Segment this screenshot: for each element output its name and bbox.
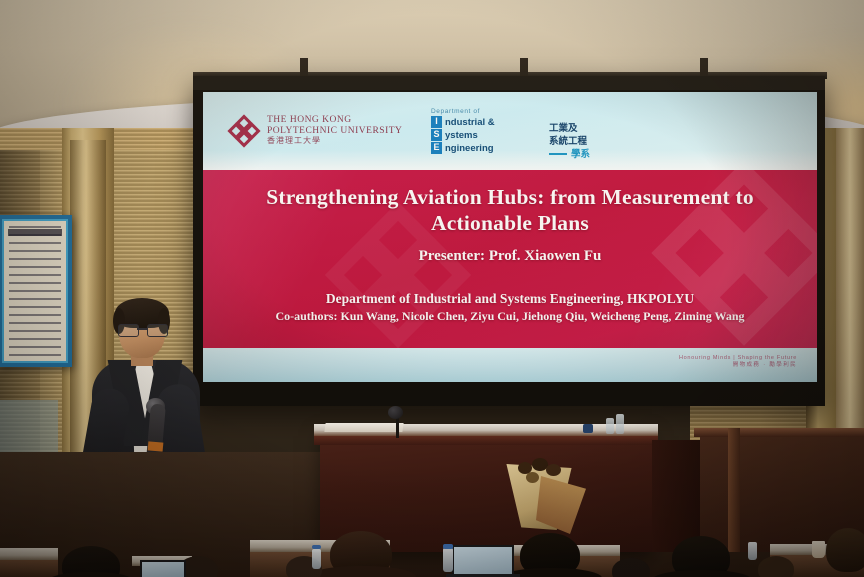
ise-initial-e: E	[431, 142, 442, 154]
bottle-cap	[312, 545, 321, 549]
audience-head	[826, 528, 864, 572]
audience-head	[612, 558, 650, 577]
polyu-tagline: Honouring Minds | Shaping the Future 開物成…	[679, 355, 797, 369]
ise-chinese-line1: 工業及	[549, 122, 590, 135]
polyu-name-chinese: 香港理工大學	[267, 137, 402, 146]
screen-mount-bracket	[520, 58, 528, 78]
water-bottle	[443, 548, 453, 572]
polyu-name-line2: POLYTECHNIC UNIVERSITY	[267, 126, 402, 137]
screen-mount-bracket	[300, 58, 308, 78]
water-bottle	[312, 549, 321, 569]
screen-mount-bracket	[700, 58, 708, 78]
slide-coauthors-line: Co-authors: Kun Wang, Nicole Chen, Ziyu …	[211, 309, 809, 324]
polyu-wordmark: THE HONG KONG POLYTECHNIC UNIVERSITY 香港理…	[267, 115, 402, 146]
audience-desk	[0, 548, 58, 560]
bouquet-flower	[526, 472, 539, 483]
slide-department-line: Department of Industrial and Systems Eng…	[223, 291, 797, 307]
bouquet-flower	[546, 464, 561, 476]
bottle-cap	[443, 544, 453, 549]
tagline-english: Honouring Minds | Shaping the Future	[679, 355, 797, 362]
polyu-diamond-logo-icon	[227, 114, 261, 148]
slide-title: Strengthening Aviation Hubs: from Measur…	[223, 184, 797, 236]
ise-eyebrow: Department of	[431, 108, 495, 115]
ise-initial-s: S	[431, 129, 442, 141]
framed-notice	[0, 215, 72, 367]
ise-word-engineering: ngineering	[445, 142, 495, 155]
presentation-slide: THE HONG KONG POLYTECHNIC UNIVERSITY 香港理…	[203, 92, 817, 382]
flower-bouquet	[496, 452, 588, 532]
ise-word-systems: ystems	[445, 129, 495, 142]
slide-body-red: Strengthening Aviation Hubs: from Measur…	[203, 170, 817, 348]
ise-initial-i: I	[431, 116, 442, 128]
podium-front-edge	[314, 436, 658, 445]
podium-side-panel	[652, 440, 702, 552]
ise-chinese-line2: 系統工程	[549, 135, 590, 148]
ise-word-industrial: ndustrial &	[445, 116, 495, 129]
slide-presenter-line: Presenter: Prof. Xiaowen Fu	[223, 248, 797, 265]
ise-chinese-block: 工業及 系統工程 學系	[549, 122, 590, 161]
paper-cup	[812, 541, 825, 558]
podium-water-bottle	[606, 418, 614, 434]
screen-bezel	[193, 76, 825, 90]
podium-small-box	[583, 424, 593, 433]
podium-papers	[324, 423, 403, 432]
podium-microphone-icon	[388, 406, 403, 419]
podium-water-bottle	[616, 414, 624, 434]
microphone-band	[148, 441, 164, 451]
eyeglasses-icon	[118, 324, 166, 336]
ise-chinese-line3-text: 學系	[571, 149, 590, 160]
slide-footer-band: Honouring Minds | Shaping the Future 開物成…	[203, 348, 817, 382]
ise-dash-rule	[549, 153, 567, 155]
ise-chinese-line3: 學系	[549, 148, 590, 161]
tagline-chinese: 開物成務 · 勵學利民	[679, 362, 797, 369]
lecture-hall-photo: THE HONG KONG POLYTECHNIC UNIVERSITY 香港理…	[0, 0, 864, 577]
water-bottle	[748, 542, 757, 560]
audience-head	[758, 556, 794, 577]
cabinet-post	[728, 428, 740, 552]
polyu-name-line1: THE HONG KONG	[267, 115, 402, 126]
ise-department-logo: Department of I S E ndustrial & ystems n…	[431, 108, 495, 155]
audience-desk-front	[0, 560, 58, 577]
door-frame-right	[836, 128, 864, 468]
cabinet-top-edge	[694, 428, 864, 437]
